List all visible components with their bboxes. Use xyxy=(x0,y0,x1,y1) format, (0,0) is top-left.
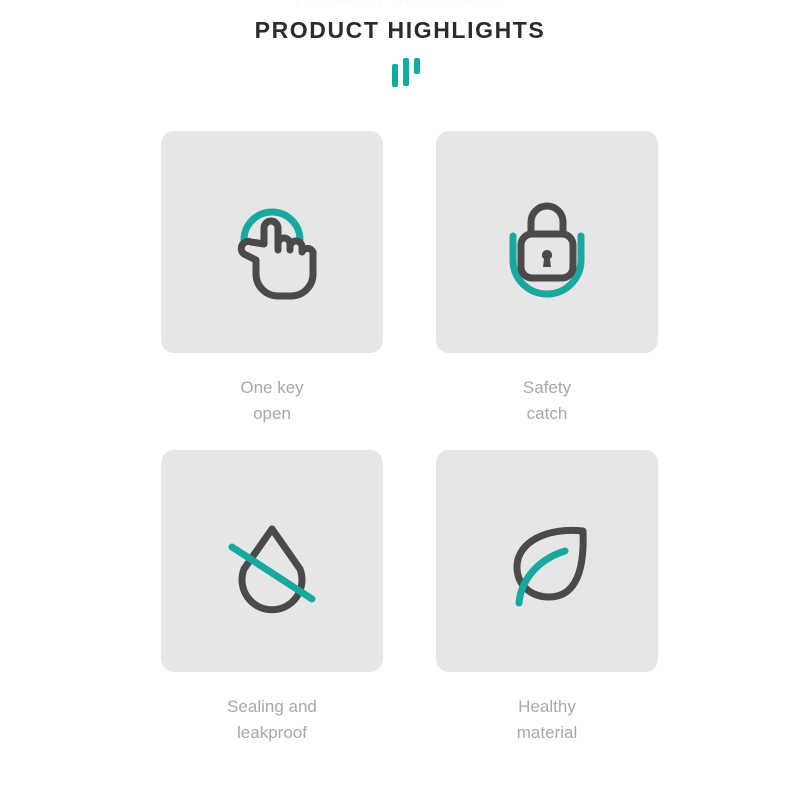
feature-one-key-open: One key open xyxy=(161,131,383,450)
feature-caption-sealing-and-leakproof: Sealing and leakproof xyxy=(161,672,383,769)
features-grid: One key open Safety catch xyxy=(161,131,658,768)
ornament-bar-2 xyxy=(403,58,409,86)
feature-sealing-and-leakproof: Sealing and leakproof xyxy=(161,450,383,769)
feature-card-safety-catch[interactable] xyxy=(436,131,658,353)
hand-tap-icon xyxy=(212,182,332,302)
no-water-drop-icon xyxy=(212,501,332,621)
feature-card-healthy-material[interactable] xyxy=(436,450,658,672)
feature-safety-catch: Safety catch xyxy=(436,131,658,450)
leaf-icon xyxy=(487,501,607,621)
ornament-bar-3 xyxy=(414,58,420,74)
header: PRODUCT HIGHLIGHTS xyxy=(0,0,800,43)
feature-caption-healthy-material: Healthy material xyxy=(436,672,658,769)
feature-healthy-material: Healthy material xyxy=(436,450,658,769)
padlock-icon xyxy=(487,182,607,302)
feature-caption-one-key-open: One key open xyxy=(161,353,383,450)
page-title: PRODUCT HIGHLIGHTS xyxy=(0,0,800,43)
feature-card-sealing-and-leakproof[interactable] xyxy=(161,450,383,672)
three-bars-ornament xyxy=(0,58,800,90)
ornament-bar-1 xyxy=(392,64,398,87)
feature-card-one-key-open[interactable] xyxy=(161,131,383,353)
feature-caption-safety-catch: Safety catch xyxy=(436,353,658,450)
